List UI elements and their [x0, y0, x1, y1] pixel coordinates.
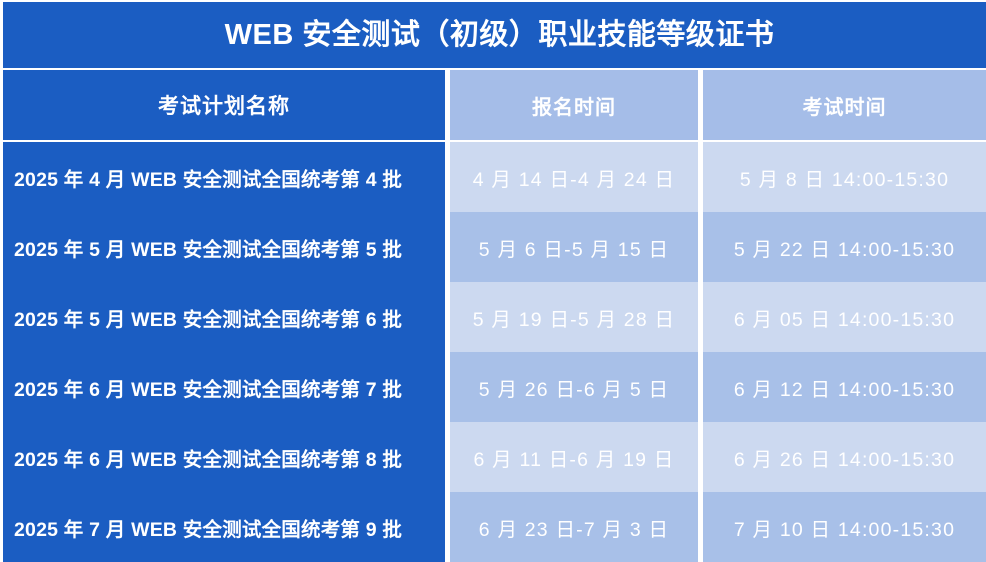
- table-row: 2025 年 7 月 WEB 安全测试全国统考第 9 批 6 月 23 日-7 …: [0, 492, 986, 562]
- cell-exam-time: 5 月 8 日 14:00-15:30: [703, 142, 986, 212]
- column-header-exam-time: 考试时间: [703, 70, 986, 140]
- cell-registration-time: 4 月 14 日-4 月 24 日: [450, 142, 698, 212]
- table-row: 2025 年 6 月 WEB 安全测试全国统考第 7 批 5 月 26 日-6 …: [0, 352, 986, 422]
- cell-registration-time: 5 月 19 日-5 月 28 日: [450, 282, 698, 352]
- column-header-registration-time: 报名时间: [450, 70, 698, 140]
- cell-exam-time: 6 月 05 日 14:00-15:30: [703, 282, 986, 352]
- cell-plan-name: 2025 年 4 月 WEB 安全测试全国统考第 4 批: [3, 142, 445, 212]
- cell-registration-time: 5 月 6 日-5 月 15 日: [450, 212, 698, 282]
- cell-exam-time: 6 月 12 日 14:00-15:30: [703, 352, 986, 422]
- cell-registration-time: 6 月 23 日-7 月 3 日: [450, 492, 698, 562]
- cell-exam-time: 6 月 26 日 14:00-15:30: [703, 422, 986, 492]
- table-row: 2025 年 6 月 WEB 安全测试全国统考第 8 批 6 月 11 日-6 …: [0, 422, 986, 492]
- column-header-plan-name: 考试计划名称: [3, 70, 445, 140]
- cell-plan-name: 2025 年 5 月 WEB 安全测试全国统考第 5 批: [3, 212, 445, 282]
- cell-registration-time: 6 月 11 日-6 月 19 日: [450, 422, 698, 492]
- exam-schedule-table-image: WEB 安全测试（初级）职业技能等级证书 考试计划名称 报名时间 考试时间 20…: [0, 0, 986, 560]
- cell-registration-time: 5 月 26 日-6 月 5 日: [450, 352, 698, 422]
- cell-plan-name: 2025 年 6 月 WEB 安全测试全国统考第 7 批: [3, 352, 445, 422]
- table-row: 2025 年 5 月 WEB 安全测试全国统考第 6 批 5 月 19 日-5 …: [0, 282, 986, 352]
- cell-plan-name: 2025 年 6 月 WEB 安全测试全国统考第 8 批: [3, 422, 445, 492]
- cell-exam-time: 5 月 22 日 14:00-15:30: [703, 212, 986, 282]
- cell-exam-time: 7 月 10 日 14:00-15:30: [703, 492, 986, 562]
- cell-plan-name: 2025 年 7 月 WEB 安全测试全国统考第 9 批: [3, 492, 445, 562]
- table-row: 2025 年 5 月 WEB 安全测试全国统考第 5 批 5 月 6 日-5 月…: [0, 212, 986, 282]
- cell-plan-name: 2025 年 5 月 WEB 安全测试全国统考第 6 批: [3, 282, 445, 352]
- banner-title-bar: WEB 安全测试（初级）职业技能等级证书: [3, 2, 986, 68]
- table-header-row: 考试计划名称 报名时间 考试时间: [0, 70, 986, 140]
- page-title: WEB 安全测试（初级）职业技能等级证书: [215, 21, 775, 50]
- exam-schedule-table: 考试计划名称 报名时间 考试时间 2025 年 4 月 WEB 安全测试全国统考…: [0, 70, 986, 560]
- table-row: 2025 年 4 月 WEB 安全测试全国统考第 4 批 4 月 14 日-4 …: [0, 142, 986, 212]
